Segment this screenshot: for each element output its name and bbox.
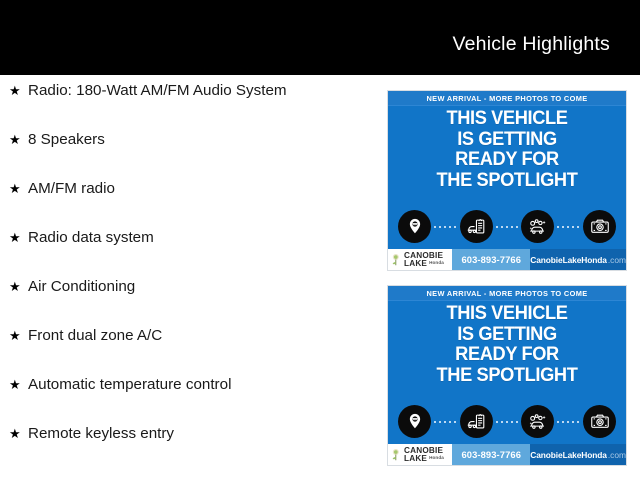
promo-headline-line: READY FOR — [397, 150, 618, 171]
inspection-checklist-icon — [460, 405, 493, 438]
star-bullet-icon: ★ — [9, 329, 28, 342]
dealer-website[interactable]: CanobieLakeHonda .com — [530, 249, 626, 270]
dealer-logo: CANOBIE LAKE Honda — [388, 249, 452, 270]
promo-icon-strip — [388, 405, 626, 438]
logo-brand-text: Honda — [429, 259, 444, 267]
feature-label: Radio data system — [28, 229, 154, 246]
promo-headline-line: THE SPOTLIGHT — [397, 366, 618, 387]
connector-dots — [496, 421, 519, 423]
website-name: CanobieLakeHonda — [530, 450, 607, 460]
promo-footer: CANOBIE LAKE Honda 603-893-7766 CanobieL… — [388, 249, 626, 270]
star-bullet-icon: ★ — [9, 133, 28, 146]
tree-logo-icon — [391, 448, 402, 462]
feature-label: Remote keyless entry — [28, 425, 174, 442]
page-header: Vehicle Highlights — [0, 0, 640, 75]
list-item: ★ Automatic temperature control — [0, 376, 380, 425]
list-item: ★ Radio data system — [0, 229, 380, 278]
connector-dots — [557, 226, 580, 228]
feature-label: Radio: 180-Watt AM/FM Audio System — [28, 82, 287, 99]
website-tld: .com — [608, 255, 626, 265]
feature-label: 8 Speakers — [28, 131, 105, 148]
list-item: ★ Radio: 180-Watt AM/FM Audio System — [0, 82, 380, 131]
connector-dots — [557, 421, 580, 423]
vehicle-highlights-page: Vehicle Highlights ★ Radio: 180-Watt AM/… — [0, 0, 640, 480]
logo-secondary-text: LAKE — [404, 455, 427, 463]
feature-label: Front dual zone A/C — [28, 327, 162, 344]
promo-headline-line: THIS VEHICLE — [397, 304, 618, 325]
list-item: ★ Remote keyless entry — [0, 425, 380, 474]
dealer-website[interactable]: CanobieLakeHonda .com — [530, 444, 626, 465]
promo-headline-line: IS GETTING — [397, 325, 618, 346]
camera-icon — [583, 405, 616, 438]
promo-body: THIS VEHICLE IS GETTING READY FOR THE SP… — [388, 106, 626, 249]
promo-headline-line: THIS VEHICLE — [397, 109, 618, 130]
logo-brand-text: Honda — [429, 454, 444, 462]
feature-label: Automatic temperature control — [28, 376, 231, 393]
promo-card-2[interactable]: NEW ARRIVAL - MORE PHOTOS TO COME THIS V… — [387, 285, 627, 466]
star-bullet-icon: ★ — [9, 84, 28, 97]
dealer-logo: CANOBIE LAKE Honda — [388, 444, 452, 465]
feature-label: Air Conditioning — [28, 278, 135, 295]
page-title: Vehicle Highlights — [452, 19, 640, 56]
logo-secondary-text: LAKE — [404, 260, 427, 268]
star-bullet-icon: ★ — [9, 231, 28, 244]
car-wash-icon — [521, 405, 554, 438]
dealer-phone[interactable]: 603-893-7766 — [452, 249, 530, 270]
list-item: ★ Air Conditioning — [0, 278, 380, 327]
list-item: ★ Front dual zone A/C — [0, 327, 380, 376]
feature-label: AM/FM radio — [28, 180, 115, 197]
promo-headline: THIS VEHICLE IS GETTING READY FOR THE SP… — [393, 303, 621, 386]
location-pin-icon — [398, 210, 431, 243]
promo-headline: THIS VEHICLE IS GETTING READY FOR THE SP… — [393, 108, 621, 191]
star-bullet-icon: ★ — [9, 182, 28, 195]
dealer-phone[interactable]: 603-893-7766 — [452, 444, 530, 465]
connector-dots — [434, 421, 457, 423]
camera-icon — [583, 210, 616, 243]
tree-logo-icon — [391, 253, 402, 267]
promo-headline-line: READY FOR — [397, 345, 618, 366]
vehicle-features-list: ★ Radio: 180-Watt AM/FM Audio System ★ 8… — [0, 82, 380, 474]
promo-icon-strip — [388, 210, 626, 243]
promo-headline-line: THE SPOTLIGHT — [397, 171, 618, 192]
website-name: CanobieLakeHonda — [530, 255, 607, 265]
promo-body: THIS VEHICLE IS GETTING READY FOR THE SP… — [388, 301, 626, 444]
car-wash-icon — [521, 210, 554, 243]
inspection-checklist-icon — [460, 210, 493, 243]
list-item: ★ 8 Speakers — [0, 131, 380, 180]
promo-footer: CANOBIE LAKE Honda 603-893-7766 CanobieL… — [388, 444, 626, 465]
connector-dots — [496, 226, 519, 228]
star-bullet-icon: ★ — [9, 280, 28, 293]
promo-headline-line: IS GETTING — [397, 130, 618, 151]
list-item: ★ AM/FM radio — [0, 180, 380, 229]
promo-card-1[interactable]: NEW ARRIVAL - MORE PHOTOS TO COME THIS V… — [387, 90, 627, 271]
location-pin-icon — [398, 405, 431, 438]
website-tld: .com — [608, 450, 626, 460]
promo-banner: NEW ARRIVAL - MORE PHOTOS TO COME — [388, 286, 626, 301]
promo-banner: NEW ARRIVAL - MORE PHOTOS TO COME — [388, 91, 626, 106]
star-bullet-icon: ★ — [9, 427, 28, 440]
connector-dots — [434, 226, 457, 228]
star-bullet-icon: ★ — [9, 378, 28, 391]
